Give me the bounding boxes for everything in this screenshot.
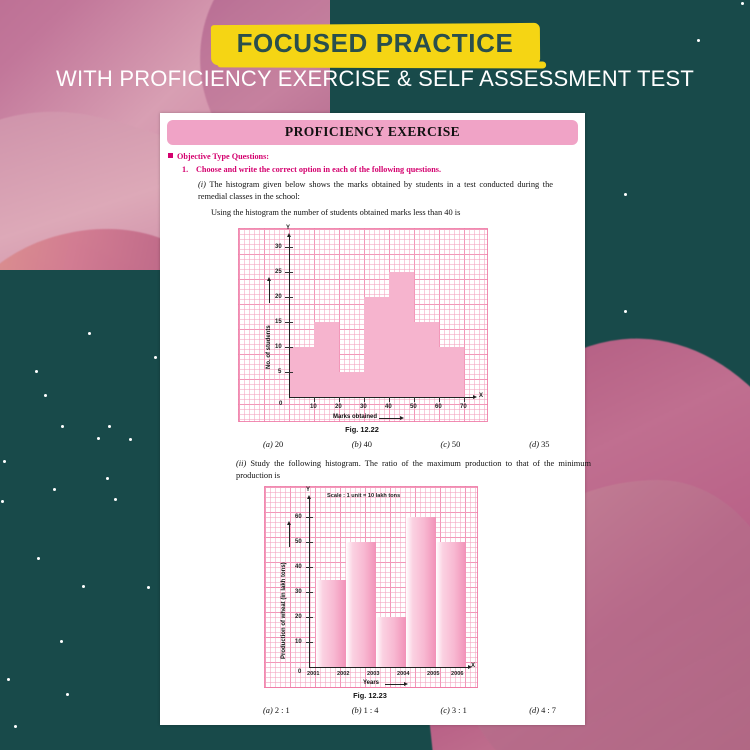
y-tick-label-15: 15 (275, 319, 282, 325)
option-c-letter: (c) (441, 440, 450, 449)
x-tick-label-60: 60 (435, 404, 442, 410)
bullet-square-icon (168, 153, 173, 158)
bar-60-70 (439, 347, 464, 397)
star-dot (82, 585, 85, 588)
star-dot (108, 425, 111, 428)
star-dot (129, 438, 132, 441)
y-axis-arrow-icon (287, 233, 291, 237)
option-a-value: 20 (275, 440, 283, 449)
question-number: 1. (182, 165, 196, 174)
header-title: FOCUSED PRACTICE (237, 28, 514, 59)
bar-20-30 (339, 372, 364, 397)
histogram-marks-obtained: Y X 0 5 10 15 20 25 30 10 20 30 40 50 60… (238, 228, 488, 422)
option-d-value: 4 : 7 (541, 706, 556, 715)
y-axis-arrow-icon (307, 495, 311, 499)
x-tick-label-2002: 2002 (337, 671, 349, 677)
y-tick (285, 272, 293, 273)
bar-2003-2004 (376, 617, 406, 667)
x-tick (364, 397, 365, 402)
y-tick-label-10: 10 (275, 344, 282, 350)
book-page: PROFICIENCY EXERCISE Objective Type Ques… (160, 113, 585, 725)
question-i-subtext: Using the histogram the number of studen… (211, 207, 585, 219)
bar-10-20 (314, 322, 339, 397)
star-dot (60, 640, 63, 643)
y-tick-label-20: 20 (275, 294, 282, 300)
y-tick (306, 642, 313, 643)
star-dot (88, 332, 91, 335)
x-tick (314, 397, 315, 402)
star-dot (114, 498, 117, 501)
bar-2004-2005 (406, 517, 436, 667)
question-i-body: The histogram given below shows the mark… (198, 180, 553, 201)
x-axis-name: X (471, 663, 475, 669)
x-axis-title-arrow-icon (404, 682, 408, 686)
x-tick (414, 397, 415, 402)
option-c-ii[interactable]: (c) 3 : 1 (441, 706, 530, 715)
y-tick (285, 347, 293, 348)
star-dot (53, 488, 56, 491)
options-question-ii: (a) 2 : 1 (b) 1 : 4 (c) 3 : 1 (d) 4 : 7 (263, 706, 618, 715)
chart-scale-note: Scale : 1 unit = 10 lakh tons (327, 493, 400, 499)
star-dot (97, 437, 100, 440)
x-tick-label-70: 70 (460, 404, 467, 410)
y-tick (306, 617, 313, 618)
x-axis-title-arrow-icon (400, 416, 404, 420)
banner-title: PROFICIENCY EXERCISE (285, 124, 460, 139)
question-i-text: (i) The histogram given below shows the … (198, 179, 553, 203)
y-tick (285, 372, 293, 373)
option-b-value: 40 (364, 440, 372, 449)
y-axis-name: Y (306, 487, 310, 493)
option-b-i[interactable]: (b) 40 (352, 440, 441, 449)
option-a-letter: (a) (263, 706, 273, 715)
y-axis-title-rule (289, 525, 290, 547)
option-c-value: 50 (452, 440, 460, 449)
option-a-i[interactable]: (a) 20 (263, 440, 352, 449)
x-tick (389, 397, 390, 402)
question-ii-body: Study the following histogram. The ratio… (236, 459, 591, 480)
bar-2001-2002 (316, 580, 346, 667)
star-dot (14, 725, 17, 728)
star-dot (37, 557, 40, 560)
option-d-letter: (d) (529, 440, 539, 449)
star-dot (35, 370, 38, 373)
option-b-letter: (b) (352, 440, 362, 449)
x-tick (439, 397, 440, 402)
question-ii-text: (ii) Study the following histogram. The … (236, 458, 591, 482)
star-dot (61, 425, 64, 428)
option-d-value: 35 (541, 440, 549, 449)
star-dot (3, 460, 6, 463)
option-b-letter: (b) (352, 706, 362, 715)
x-tick-label-50: 50 (410, 404, 417, 410)
header-subtitle: WITH PROFICIENCY EXERCISE & SELF ASSESSM… (0, 66, 750, 92)
option-d-i[interactable]: (d) 35 (529, 440, 618, 449)
star-dot (624, 310, 627, 313)
star-dot (1, 500, 4, 503)
question-ii-marker: (ii) (236, 459, 246, 468)
star-dot (154, 356, 157, 359)
option-d-letter: (d) (529, 706, 539, 715)
option-a-value: 2 : 1 (275, 706, 290, 715)
y-tick (285, 247, 293, 248)
focused-practice-highlight: FOCUSED PRACTICE (211, 24, 540, 64)
question-instruction: Choose and write the correct option in e… (196, 165, 441, 174)
y-axis-title-rule (269, 281, 270, 303)
star-dot (66, 693, 69, 696)
y-tick-label-25: 25 (275, 269, 282, 275)
question-i-marker: (i) (198, 180, 206, 189)
y-axis-line (289, 237, 290, 397)
y-tick-label-20: 20 (295, 614, 302, 620)
y-axis-title: No. of students (266, 325, 272, 369)
bar-30-40 (364, 297, 389, 397)
y-tick-label-40: 40 (295, 564, 302, 570)
y-tick-label-5: 5 (278, 369, 281, 375)
y-tick-label-50: 50 (295, 539, 302, 545)
star-dot (147, 586, 150, 589)
y-axis-title-arrow-icon (287, 521, 291, 525)
y-tick-label-30: 30 (295, 589, 302, 595)
bar-2005-2006 (436, 542, 466, 667)
option-c-i[interactable]: (c) 50 (441, 440, 530, 449)
y-tick-label-0: 0 (279, 401, 282, 407)
x-tick-label-30: 30 (360, 404, 367, 410)
bar-50-60 (414, 322, 439, 397)
y-tick (285, 322, 293, 323)
objective-heading-label: Objective Type Questions: (177, 152, 269, 161)
header-banner: FOCUSED PRACTICE (0, 24, 750, 64)
option-c-value: 3 : 1 (452, 706, 467, 715)
x-tick-label-10: 10 (310, 404, 317, 410)
x-axis-title-rule (379, 418, 401, 419)
y-axis-name: Y (286, 225, 290, 231)
x-tick (464, 397, 465, 402)
y-tick (306, 592, 313, 593)
objective-type-heading: Objective Type Questions: (168, 152, 585, 161)
x-tick-label-40: 40 (385, 404, 392, 410)
y-tick-label-0: 0 (298, 669, 301, 675)
x-axis-line (289, 397, 474, 398)
y-tick-label-60: 60 (295, 514, 302, 520)
option-b-ii[interactable]: (b) 1 : 4 (352, 706, 441, 715)
y-tick (285, 297, 293, 298)
y-tick (306, 567, 313, 568)
figure-caption-12-22: Fig. 12.22 (238, 425, 486, 434)
star-dot (7, 678, 10, 681)
x-axis-title: Years (363, 680, 379, 686)
options-question-i: (a) 20 (b) 40 (c) 50 (d) 35 (263, 440, 618, 449)
figure-caption-12-23: Fig. 12.23 (264, 691, 476, 700)
option-a-letter: (a) (263, 440, 273, 449)
star-dot (741, 2, 744, 5)
star-dot (44, 394, 47, 397)
x-tick-label-2003: 2003 (367, 671, 379, 677)
y-axis-title: Production of wheat (in lakh tons) (281, 509, 288, 659)
option-c-letter: (c) (441, 706, 450, 715)
y-tick (306, 542, 313, 543)
y-axis-title-arrow-icon (267, 277, 271, 281)
question-1-heading: 1.Choose and write the correct option in… (182, 165, 585, 174)
bar-2002-2003 (346, 542, 376, 667)
x-tick-label-2001: 2001 (307, 671, 319, 677)
x-tick-label-2006: 2006 (451, 671, 463, 677)
x-axis-title: Marks obtained (333, 414, 377, 420)
x-axis-arrow-icon (473, 395, 477, 399)
x-tick-label-2005: 2005 (427, 671, 439, 677)
star-dot (624, 193, 627, 196)
option-b-value: 1 : 4 (364, 706, 379, 715)
x-tick (339, 397, 340, 402)
x-tick-label-2004: 2004 (397, 671, 409, 677)
y-tick-label-10: 10 (295, 639, 302, 645)
star-dot (106, 477, 109, 480)
x-tick-label-20: 20 (335, 404, 342, 410)
x-axis-title-rule (385, 684, 405, 685)
proficiency-exercise-banner: PROFICIENCY EXERCISE (167, 120, 578, 145)
option-a-ii[interactable]: (a) 2 : 1 (263, 706, 352, 715)
y-tick-label-30: 30 (275, 244, 282, 250)
y-tick (306, 517, 313, 518)
x-axis-line (309, 667, 469, 668)
histogram-wheat-production: Scale : 1 unit = 10 lakh tons Y X 0 10 2… (264, 486, 478, 688)
option-d-ii[interactable]: (d) 4 : 7 (529, 706, 618, 715)
bar-40-50 (389, 272, 414, 397)
x-axis-name: X (479, 393, 483, 399)
